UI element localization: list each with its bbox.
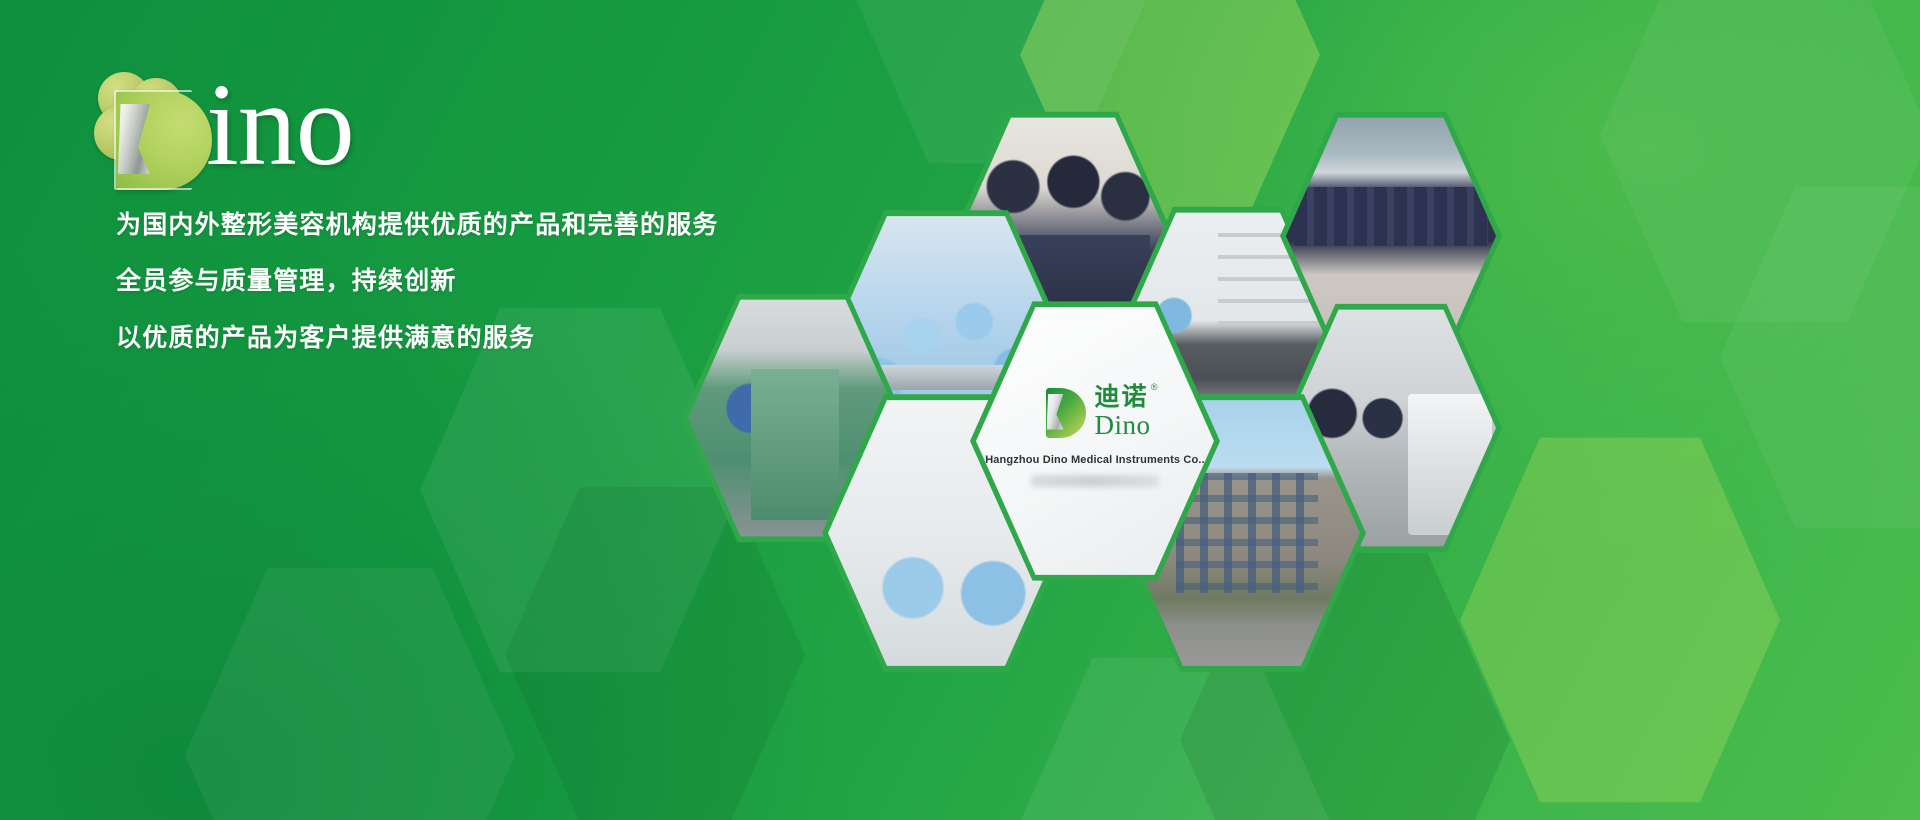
logo-name-stack: 迪诺® Dino: [1095, 385, 1151, 439]
company-legal-name: Hangzhou Dino Medical Instruments Co..: [985, 454, 1205, 466]
logo-lockup: 迪诺® Dino: [1040, 385, 1151, 439]
hexagon-photo-collage: 迪诺® Dino Hangzhou Dino Medical Instrumen…: [640, 0, 1920, 820]
hero-banner: ino 为国内外整形美容机构提供优质的产品和完善的服务 全员参与质量管理，持续创…: [0, 0, 1920, 820]
company-name-en: Dino: [1095, 411, 1151, 439]
logo-frame: [114, 90, 192, 190]
bg-hex-lower-left: [185, 560, 515, 820]
brand-wordmark: ino: [206, 66, 354, 184]
blurred-subtext: [1031, 475, 1159, 487]
dino-d-mark-icon: [1040, 388, 1086, 438]
registered-trademark-icon: ®: [1151, 383, 1160, 392]
brand-logo: ino: [88, 62, 508, 192]
company-name-cn: 迪诺®: [1095, 385, 1149, 410]
